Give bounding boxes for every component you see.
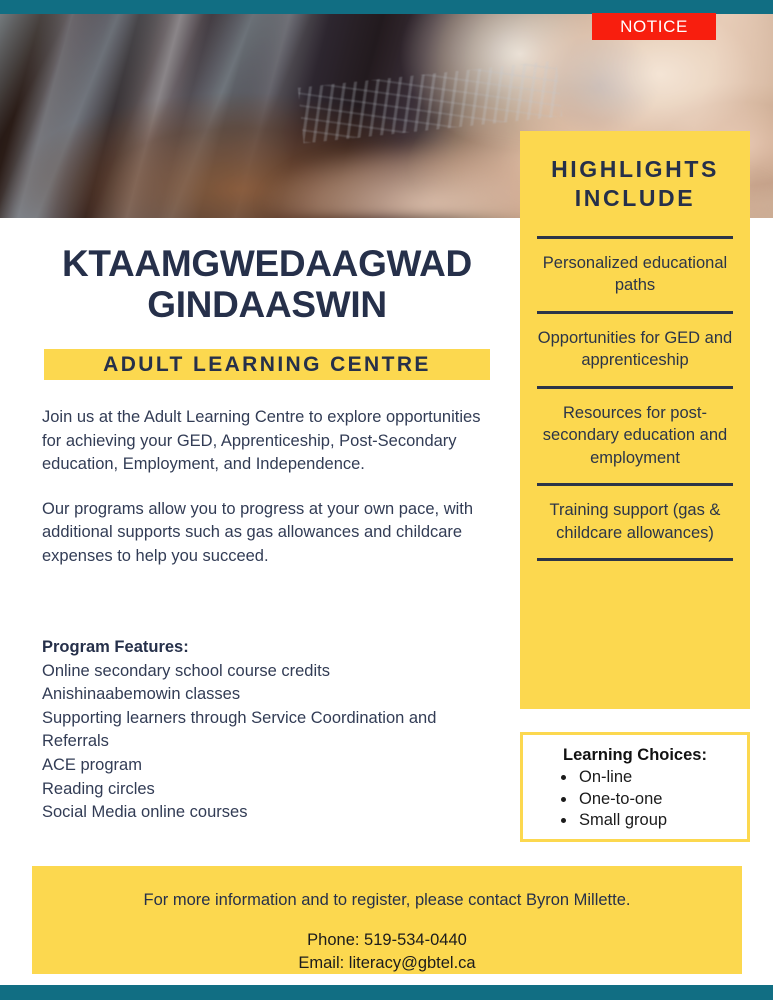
program-features-list: Online secondary school course credits A… <box>42 660 490 825</box>
learning-choices-title: Learning Choices: <box>533 745 737 766</box>
list-item: ACE program <box>42 754 490 778</box>
page-title: KTAAMGWEDAAGWAD GINDAASWIN <box>24 243 510 326</box>
footer-contact-block: Phone: 519-534-0440 Email: literacy@gbte… <box>298 929 475 975</box>
highlights-title: HIGHLIGHTS INCLUDE <box>532 155 738 214</box>
footer-email: Email: literacy@gbtel.ca <box>298 952 475 975</box>
highlights-title-spacer <box>532 214 738 236</box>
highlights-divider <box>537 558 733 561</box>
list-item: Reading circles <box>42 778 490 802</box>
footer-intro-text: For more information and to register, pl… <box>144 889 631 911</box>
notice-badge-label: NOTICE <box>620 17 688 37</box>
list-item: Anishinaabemowin classes <box>42 683 490 707</box>
list-item: Online secondary school course credits <box>42 660 490 684</box>
subtitle-label: ADULT LEARNING CENTRE <box>103 353 431 377</box>
learning-choices-list: On-line One-to-one Small group <box>577 767 737 832</box>
subtitle-highlight-bar: ADULT LEARNING CENTRE <box>44 349 490 380</box>
footer-phone: Phone: 519-534-0440 <box>298 929 475 952</box>
program-features-section: Program Features: Online secondary schoo… <box>42 636 490 825</box>
list-item: One-to-one <box>577 789 737 811</box>
notice-badge: NOTICE <box>592 13 716 40</box>
contact-footer: For more information and to register, pl… <box>32 866 742 974</box>
list-item: Small group <box>577 810 737 832</box>
paragraph-supports: Our programs allow you to progress at yo… <box>42 498 482 569</box>
highlight-item: Opportunities for GED and apprenticeship <box>532 314 738 386</box>
body-copy: Join us at the Adult Learning Centre to … <box>42 406 482 590</box>
list-item: On-line <box>577 767 737 789</box>
highlight-item: Training support (gas & childcare allowa… <box>532 486 738 558</box>
highlights-panel: HIGHLIGHTS INCLUDE Personalized educatio… <box>520 131 750 709</box>
bottom-teal-rule <box>0 985 773 1000</box>
list-item: Social Media online courses <box>42 801 490 825</box>
highlight-item: Resources for post-secondary education a… <box>532 389 738 484</box>
paragraph-intro: Join us at the Adult Learning Centre to … <box>42 406 482 477</box>
learning-choices-box: Learning Choices: On-line One-to-one Sma… <box>520 732 750 842</box>
list-item: Supporting learners through Service Coor… <box>42 707 490 754</box>
highlight-item: Personalized educational paths <box>532 239 738 311</box>
top-teal-rule <box>0 0 773 14</box>
program-features-title: Program Features: <box>42 636 490 660</box>
